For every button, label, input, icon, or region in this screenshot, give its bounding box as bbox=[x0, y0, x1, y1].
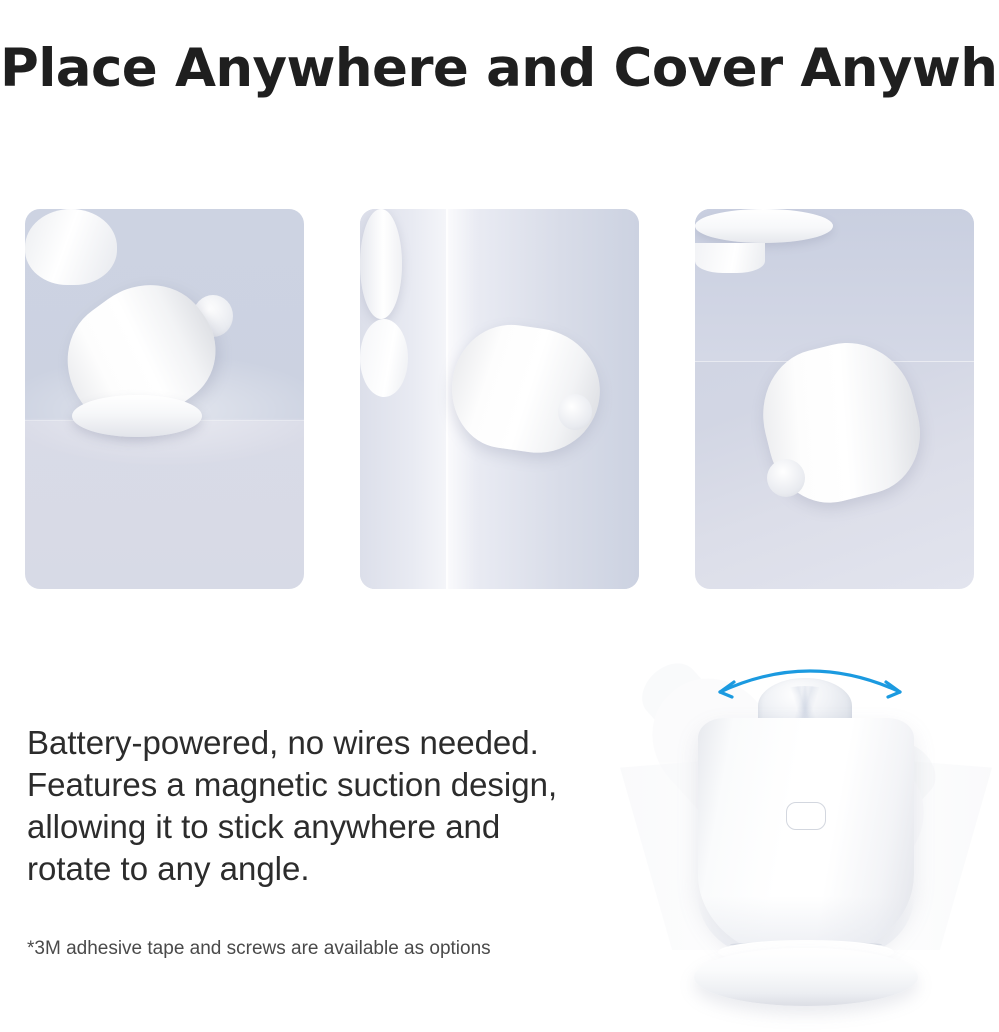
sensor-wall-illustration bbox=[360, 209, 408, 397]
sensor-neck-icon bbox=[360, 319, 408, 397]
page-title: Place Anywhere and Cover Anywhere bbox=[0, 38, 999, 99]
sensor-desk-illustration bbox=[25, 209, 117, 285]
magnetic-mount-icon bbox=[360, 209, 402, 319]
panel-ceiling-mount bbox=[695, 209, 974, 589]
footnote-text: *3M adhesive tape and screws are availab… bbox=[27, 938, 491, 960]
panel-desk-mount bbox=[25, 209, 304, 589]
sensor-base bbox=[694, 948, 918, 1006]
description-line-3: allowing it to stick anywhere and bbox=[27, 806, 602, 848]
sensor-button[interactable] bbox=[786, 802, 826, 830]
sensor-base-icon bbox=[72, 395, 202, 437]
ceiling-bracket-icon bbox=[695, 209, 833, 243]
mounting-scenarios-gallery bbox=[25, 209, 974, 589]
description-line-1: Battery-powered, no wires needed. bbox=[27, 722, 602, 764]
sensor-neck-icon bbox=[25, 209, 117, 285]
panel-wall-mount bbox=[360, 209, 639, 589]
wall-corner-edge bbox=[446, 209, 448, 589]
sensor-ceiling-illustration bbox=[695, 209, 833, 273]
rotation-demo-illustration bbox=[610, 650, 999, 1032]
description-line-2: Features a magnetic suction design, bbox=[27, 764, 602, 806]
feature-description: Battery-powered, no wires needed. Featur… bbox=[27, 722, 602, 890]
pir-lens-icon bbox=[558, 394, 592, 430]
sensor-neck-icon bbox=[695, 243, 765, 273]
description-line-4: rotate to any angle. bbox=[27, 848, 602, 890]
pir-lens-icon bbox=[767, 459, 805, 497]
